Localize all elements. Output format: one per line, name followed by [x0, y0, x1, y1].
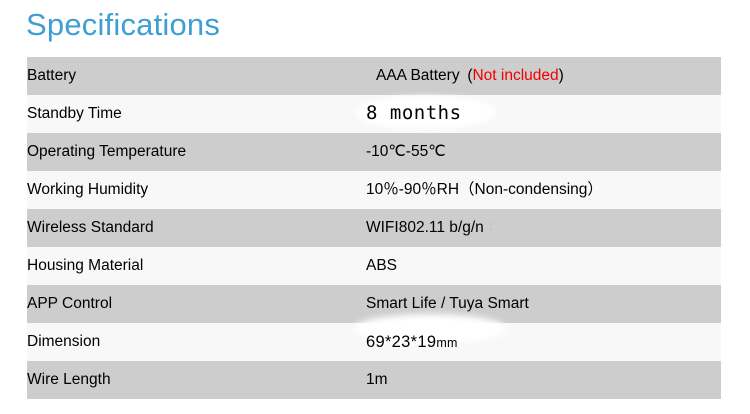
table-row: Housing Material ABS	[27, 247, 721, 285]
spec-label-app-control: APP Control	[27, 285, 366, 323]
wireless-standard-faded-artifact: ∶	[489, 219, 493, 236]
spec-value-wireless-standard: WIFI802.11 b/g/n∶	[366, 209, 721, 247]
spec-value-battery: AAA Battery (Not included)	[366, 57, 721, 95]
table-row: Dimension 69*23*19mm	[27, 323, 721, 361]
wireless-standard-value: WIFI802.11 b/g/n	[366, 219, 484, 236]
table-row: APP Control Smart Life / Tuya Smart	[27, 285, 721, 323]
battery-value-suffix: )	[559, 67, 564, 84]
spec-label-battery: Battery	[27, 57, 366, 95]
dimension-value-number: 69*23*19	[366, 333, 436, 351]
spec-label-dimension: Dimension	[27, 323, 366, 361]
spec-label-working-humidity: Working Humidity	[27, 171, 366, 209]
page-title: Specifications	[26, 4, 220, 46]
spec-value-wire-length: 1m	[366, 361, 721, 399]
table-row: Standby Time 8 months	[27, 95, 721, 133]
table-row: Working Humidity 10％-90％RH（Non-condensin…	[27, 171, 721, 209]
specifications-table: Battery AAA Battery (Not included) Stand…	[27, 57, 721, 399]
table-row: Wireless Standard WIFI802.11 b/g/n∶	[27, 209, 721, 247]
spec-label-housing-material: Housing Material	[27, 247, 366, 285]
dimension-value-unit: mm	[436, 336, 457, 350]
spec-value-app-control: Smart Life / Tuya Smart	[366, 285, 721, 323]
table-row: Battery AAA Battery (Not included)	[27, 57, 721, 95]
spec-value-dimension: 69*23*19mm	[366, 323, 721, 361]
spec-label-operating-temperature: Operating Temperature	[27, 133, 366, 171]
spec-label-wireless-standard: Wireless Standard	[27, 209, 366, 247]
spec-value-working-humidity: 10％-90％RH（Non-condensing）	[366, 171, 721, 209]
battery-not-included-note: Not included	[472, 67, 558, 84]
spec-label-standby-time: Standby Time	[27, 95, 366, 133]
spec-value-standby-time: 8 months	[366, 95, 721, 133]
spec-value-housing-material: ABS	[366, 247, 721, 285]
standby-time-value: 8 months	[366, 104, 462, 122]
table-row: Wire Length 1m	[27, 361, 721, 399]
table-row: Operating Temperature -10℃-55℃	[27, 133, 721, 171]
spec-label-wire-length: Wire Length	[27, 361, 366, 399]
spec-sheet-page: Specifications Battery AAA Battery (Not …	[0, 0, 750, 414]
battery-value-prefix: AAA Battery (	[376, 67, 472, 84]
spec-value-operating-temperature: -10℃-55℃	[366, 133, 721, 171]
